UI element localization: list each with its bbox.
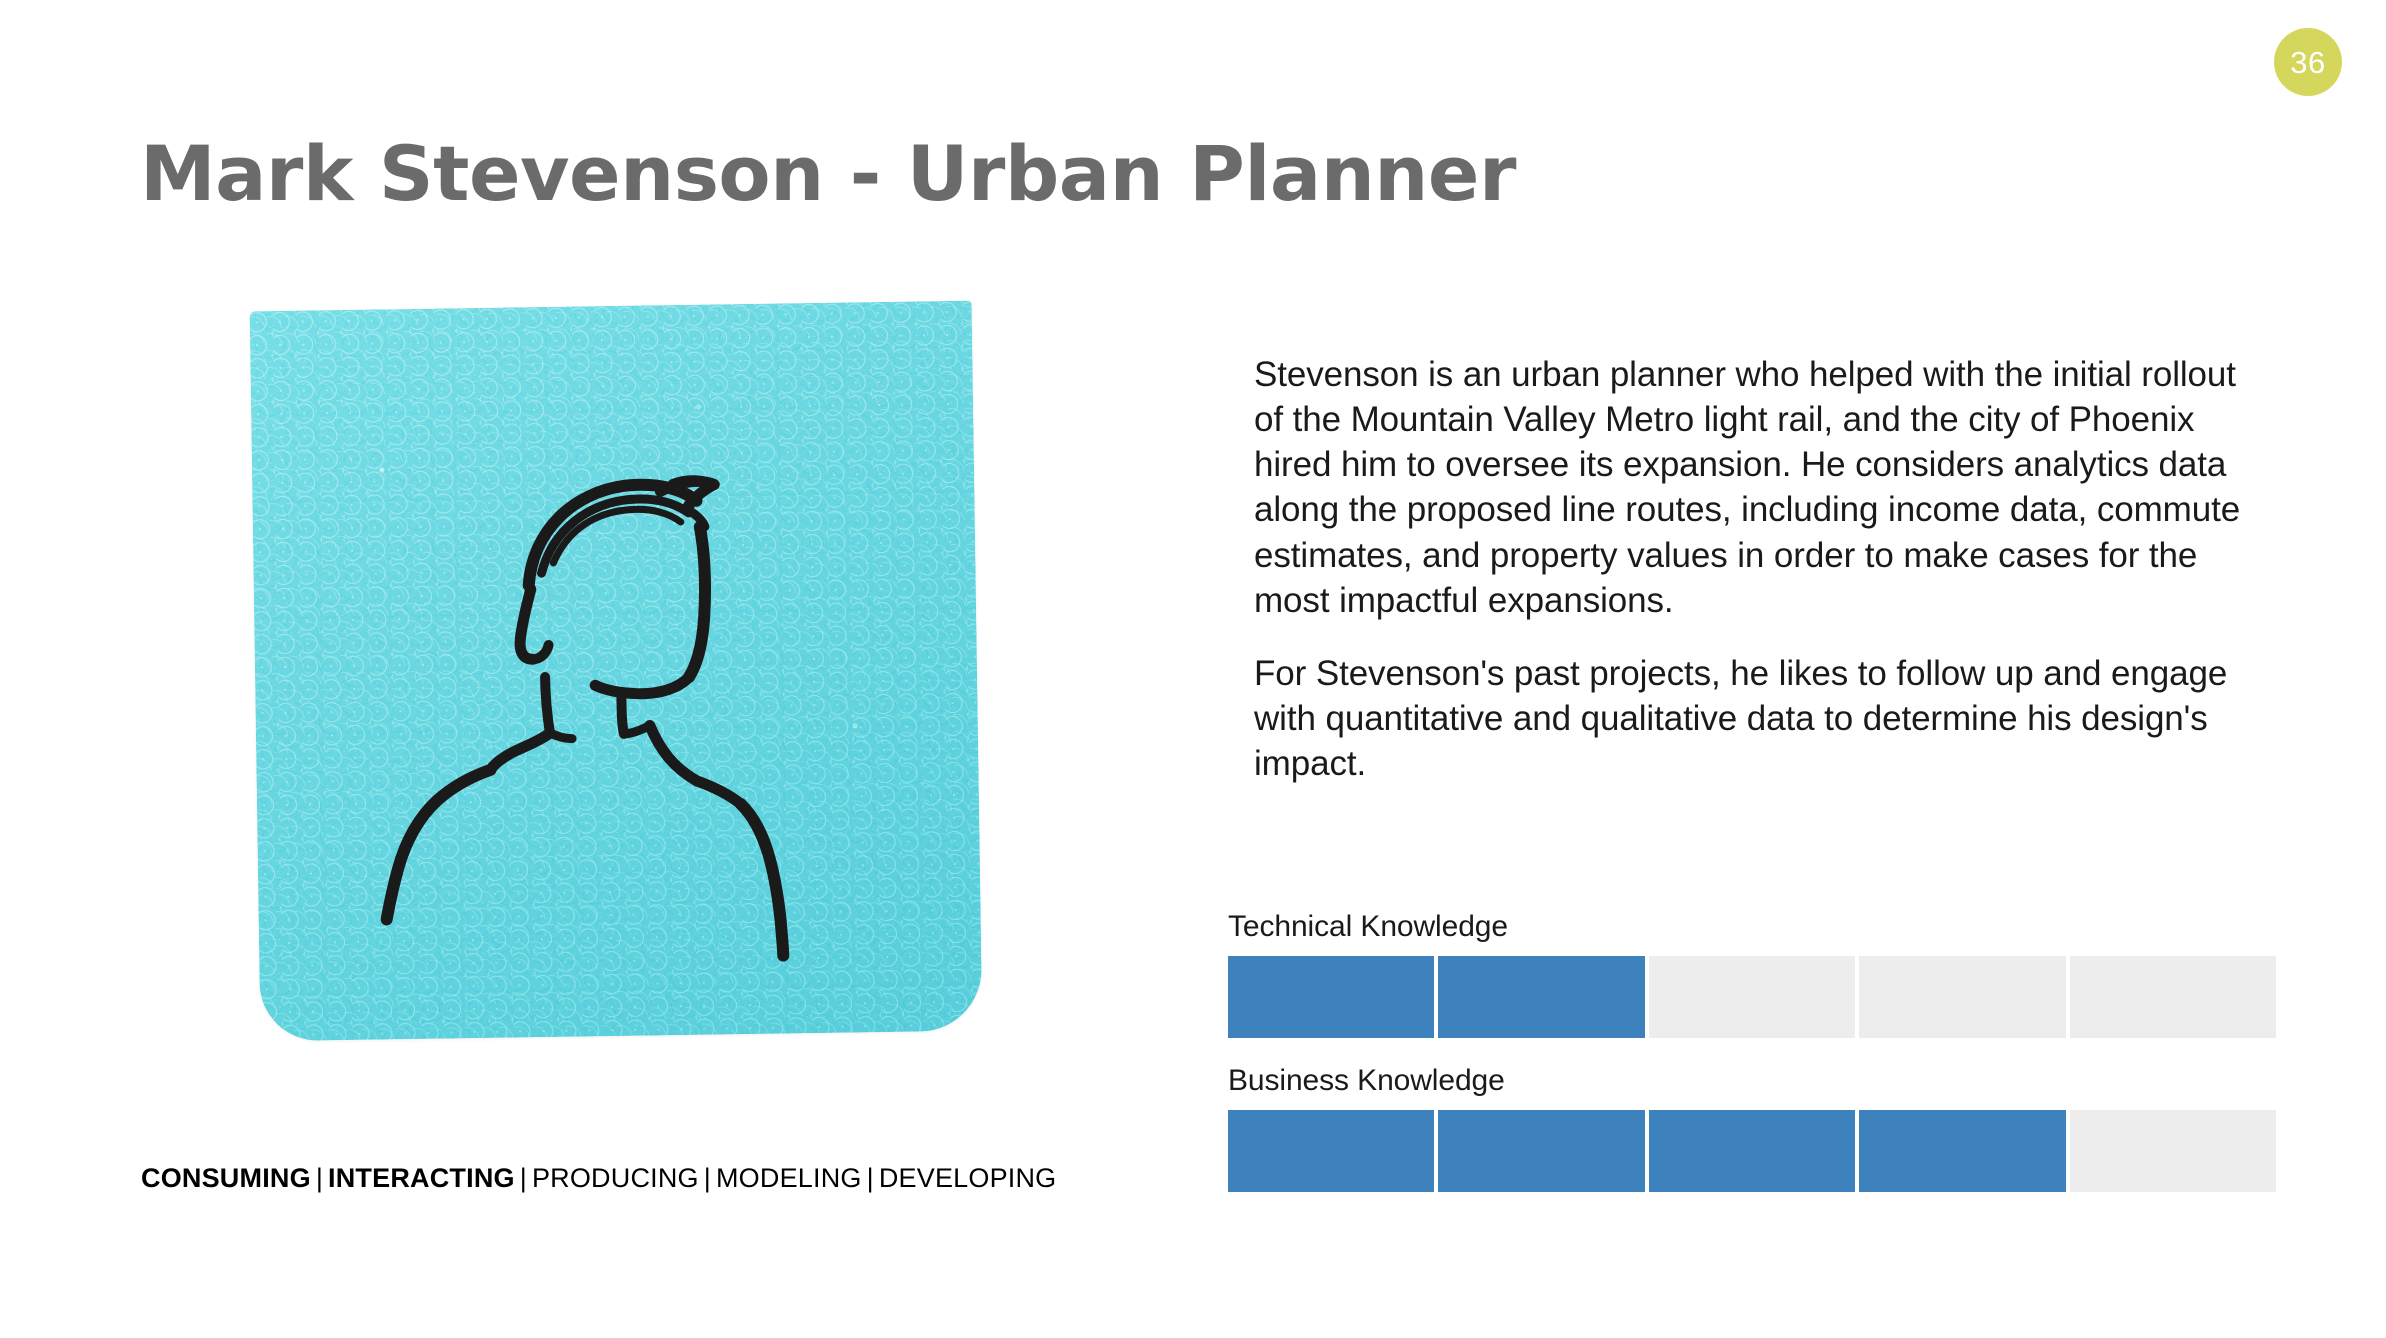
meter-segment <box>1438 956 1644 1038</box>
meter-track <box>1228 956 2276 1038</box>
page-title: Mark Stevenson - Urban Planner <box>140 133 1516 215</box>
meter-segment <box>1228 1110 1434 1192</box>
skill-level-modeling: MODELING <box>716 1163 862 1193</box>
slide-canvas: 36 Mark Stevenson - Urban Planner <box>0 0 2386 1338</box>
person-sketch-icon <box>250 301 983 1042</box>
skill-level-interacting: INTERACTING <box>328 1163 515 1193</box>
meter-segment <box>1859 956 2065 1038</box>
description-paragraph-1: Stevenson is an urban planner who helped… <box>1254 352 2264 623</box>
meter-segment <box>1649 1110 1855 1192</box>
meter-segment <box>1859 1110 2065 1192</box>
meter-segment <box>2070 956 2276 1038</box>
description-paragraph-2: For Stevenson's past projects, he likes … <box>1254 651 2264 786</box>
legend-separator-3: | <box>699 1163 716 1193</box>
skill-level-producing: PRODUCING <box>532 1163 699 1193</box>
page-number-badge: 36 <box>2274 28 2342 96</box>
sticky-note <box>250 301 983 1042</box>
meter-business-knowledge: Business Knowledge <box>1228 1064 2276 1192</box>
meter-label: Business Knowledge <box>1228 1064 2276 1098</box>
meter-segment <box>1228 956 1434 1038</box>
legend-separator-4: | <box>862 1163 879 1193</box>
legend-separator-1: | <box>311 1163 328 1193</box>
persona-description: Stevenson is an urban planner who helped… <box>1254 352 2264 786</box>
skill-level-developing: DEVELOPING <box>879 1163 1057 1193</box>
skill-level-consuming: CONSUMING <box>141 1163 311 1193</box>
legend-separator-2: | <box>515 1163 532 1193</box>
knowledge-meters: Technical Knowledge Business Knowledge <box>1228 910 2276 1192</box>
meter-label: Technical Knowledge <box>1228 910 2276 944</box>
meter-track <box>1228 1110 2276 1192</box>
meter-segment <box>1649 956 1855 1038</box>
meter-technical-knowledge: Technical Knowledge <box>1228 910 2276 1038</box>
meter-segment <box>1438 1110 1644 1192</box>
persona-portrait <box>255 306 977 1036</box>
meter-segment <box>2070 1110 2276 1192</box>
skill-level-legend: CONSUMING|INTERACTING|PRODUCING|MODELING… <box>141 1163 1056 1194</box>
